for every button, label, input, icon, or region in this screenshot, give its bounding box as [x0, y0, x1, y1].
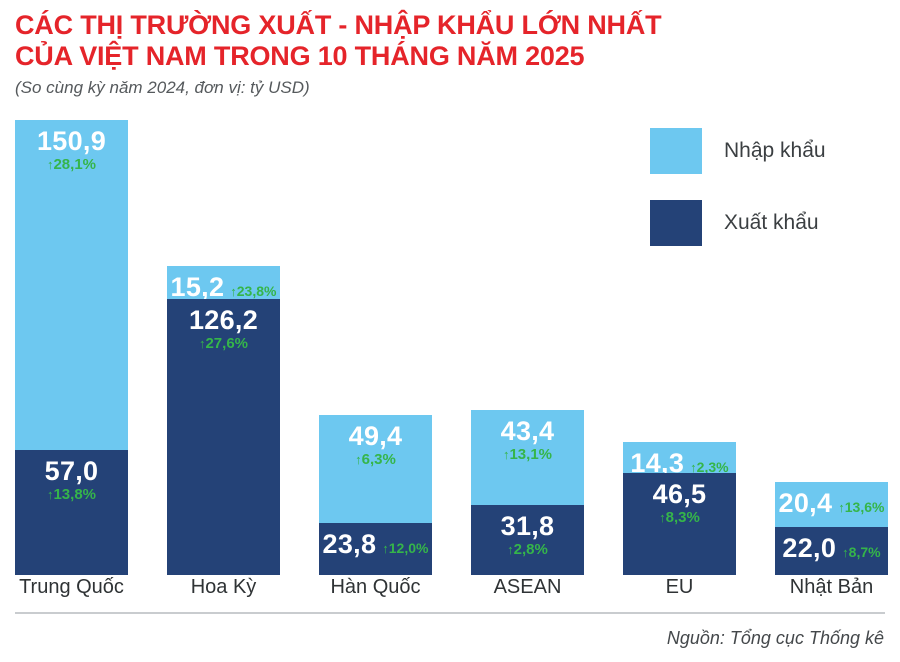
bar-segment-import[interactable]: 43,4↑13,1% [471, 410, 584, 505]
bar-growth-label: ↑8,7% [842, 543, 880, 561]
bar-value-label: 150,9 [15, 126, 128, 156]
axis-label-5: Nhật Bản [775, 576, 888, 599]
bar-value-label: 46,5 [623, 479, 736, 509]
bar-segment-import[interactable]: 49,4↑6,3% [319, 415, 432, 523]
bar-segment-import[interactable]: 14,3↑2,3% [623, 442, 736, 473]
bar-growth-value: 12,0% [389, 540, 429, 556]
axis-label-2: Hàn Quốc [319, 576, 432, 599]
bar-segment-labels: 20,4↑13,6% [775, 488, 888, 518]
bar-growth-value: 27,6% [205, 335, 248, 352]
page-title-line-2: CỦA VIỆT NAM TRONG 10 THÁNG NĂM 2025 [15, 41, 695, 72]
bar-growth-label: ↑28,1% [15, 156, 128, 174]
plot-area: 150,9↑28,1%57,0↑13,8%15,2↑23,8%126,2↑27,… [0, 120, 900, 575]
axis-label-0: Trung Quốc [15, 576, 128, 599]
bar-segment-export[interactable]: 22,0↑8,7% [775, 527, 888, 575]
bar-growth-label: ↑23,8% [230, 282, 276, 299]
bar-growth-value: 8,3% [666, 509, 700, 526]
bar-growth-label: ↑6,3% [319, 451, 432, 469]
bar-segment-labels: 22,0↑8,7% [775, 533, 888, 563]
bar-value-label: 15,2 [171, 272, 225, 299]
bar-segment-labels: 43,4↑13,1% [471, 416, 584, 464]
page-title-line-1: CÁC THỊ TRƯỜNG XUẤT - NHẬP KHẨU LỚN NHẤT [15, 10, 695, 41]
bar-value-label: 57,0 [15, 456, 128, 486]
bar-segment-labels: 23,8↑12,0% [319, 529, 432, 559]
bar-group[interactable]: 15,2↑23,8%126,2↑27,6% [167, 266, 280, 575]
bar-growth-label: ↑27,6% [167, 335, 280, 353]
bar-growth-label: ↑8,3% [623, 509, 736, 527]
bar-segment-labels: 15,2↑23,8% [167, 272, 280, 299]
axis-label-3: ASEAN [471, 576, 584, 599]
bar-segment-labels: 57,0↑13,8% [15, 456, 128, 504]
bar-segment-export[interactable]: 46,5↑8,3% [623, 473, 736, 575]
bar-segment-labels: 46,5↑8,3% [623, 479, 736, 527]
bar-growth-value: 6,3% [362, 451, 396, 468]
bar-value-label: 31,8 [471, 511, 584, 541]
infographic-chart: CÁC THỊ TRƯỜNG XUẤT - NHẬP KHẨU LỚN NHẤT… [0, 0, 900, 662]
bar-segment-labels: 49,4↑6,3% [319, 421, 432, 469]
bar-segment-export[interactable]: 23,8↑12,0% [319, 523, 432, 575]
axis-rule [15, 612, 885, 614]
bar-segment-export[interactable]: 31,8↑2,8% [471, 505, 584, 575]
bar-value-label: 14,3 [630, 448, 684, 473]
bar-segment-labels: 31,8↑2,8% [471, 511, 584, 559]
axis-label-4: EU [623, 576, 736, 599]
bar-segment-import[interactable]: 20,4↑13,6% [775, 482, 888, 527]
source-note: Nguồn: Tổng cục Thống kê [667, 628, 884, 649]
bar-growth-value: 13,6% [845, 499, 885, 515]
bar-group[interactable]: 49,4↑6,3%23,8↑12,0% [319, 415, 432, 575]
bar-value-label: 20,4 [779, 488, 833, 518]
title-block: CÁC THỊ TRƯỜNG XUẤT - NHẬP KHẨU LỚN NHẤT… [15, 10, 695, 98]
bar-growth-label: ↑13,6% [838, 498, 884, 516]
bar-growth-label: ↑13,1% [471, 446, 584, 464]
bar-group[interactable]: 20,4↑13,6%22,0↑8,7% [775, 482, 888, 575]
bar-segment-labels: 150,9↑28,1% [15, 126, 128, 174]
bar-group[interactable]: 14,3↑2,3%46,5↑8,3% [623, 442, 736, 575]
bar-value-label: 49,4 [319, 421, 432, 451]
bar-growth-value: 13,8% [53, 486, 96, 503]
axis-label-1: Hoa Kỳ [167, 576, 280, 599]
bar-value-label: 43,4 [471, 416, 584, 446]
bar-segment-import[interactable]: 150,9↑28,1% [15, 120, 128, 450]
bar-segment-import[interactable]: 15,2↑23,8% [167, 266, 280, 299]
chart-subtitle: (So cùng kỳ năm 2024, đơn vị: tỷ USD) [15, 78, 695, 98]
bar-group[interactable]: 150,9↑28,1%57,0↑13,8% [15, 120, 128, 575]
bar-growth-label: ↑2,3% [690, 458, 728, 473]
bar-growth-label: ↑12,0% [382, 539, 428, 557]
bar-growth-value: 13,1% [509, 446, 552, 463]
bar-value-label: 22,0 [782, 533, 836, 563]
bar-segment-labels: 126,2↑27,6% [167, 305, 280, 353]
bar-value-label: 23,8 [323, 529, 377, 559]
bar-value-label: 126,2 [167, 305, 280, 335]
bar-growth-value: 8,7% [849, 544, 881, 560]
bar-segment-export[interactable]: 126,2↑27,6% [167, 299, 280, 575]
bar-segment-export[interactable]: 57,0↑13,8% [15, 450, 128, 575]
bar-growth-value: 28,1% [53, 156, 96, 173]
bar-group[interactable]: 43,4↑13,1%31,8↑2,8% [471, 410, 584, 575]
bar-growth-value: 2,3% [697, 459, 729, 473]
bar-growth-value: 2,8% [514, 541, 548, 558]
category-axis: Trung QuốcHoa KỳHàn QuốcASEANEUNhật Bản [0, 576, 900, 608]
bar-segment-labels: 14,3↑2,3% [623, 448, 736, 473]
bar-growth-label: ↑2,8% [471, 541, 584, 559]
bar-growth-label: ↑13,8% [15, 486, 128, 504]
bar-growth-value: 23,8% [237, 283, 277, 299]
